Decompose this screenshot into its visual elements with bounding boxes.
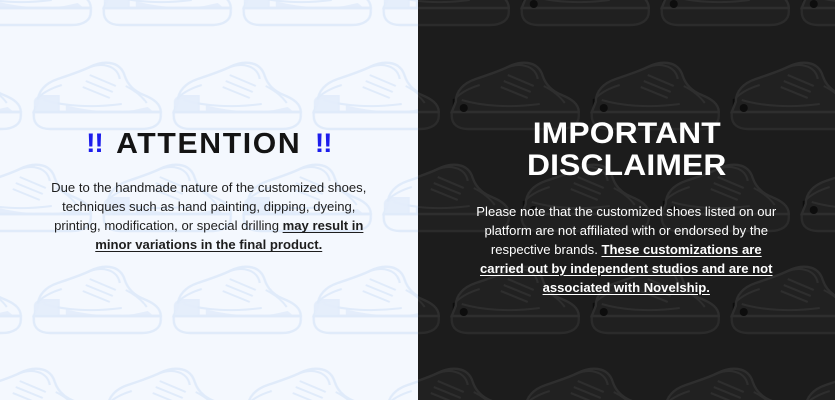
disclaimer-panel: IMPORTANT DISCLAIMER Please note that th…: [418, 0, 835, 400]
disclaimer-heading-line-1: IMPORTANT: [462, 118, 790, 150]
attention-panel: !! ATTENTION !! Due to the handmade natu…: [0, 0, 418, 400]
attention-heading: !! ATTENTION !!: [42, 130, 376, 159]
disclaimer-content: IMPORTANT DISCLAIMER Please note that th…: [418, 118, 835, 297]
disclaimer-heading: IMPORTANT DISCLAIMER: [462, 118, 790, 182]
attention-content: !! ATTENTION !! Due to the handmade natu…: [0, 130, 418, 254]
attention-body: Due to the handmade nature of the custom…: [48, 178, 370, 254]
disclaimer-body: Please note that the customized shoes li…: [472, 202, 782, 298]
disclaimer-banner: !! ATTENTION !! Due to the handmade natu…: [0, 0, 835, 400]
disclaimer-heading-line-2: DISCLAIMER: [462, 150, 790, 182]
double-exclamation-icon-right: !!: [315, 130, 331, 157]
attention-heading-text: ATTENTION: [116, 130, 301, 159]
double-exclamation-icon-left: !!: [86, 130, 102, 157]
